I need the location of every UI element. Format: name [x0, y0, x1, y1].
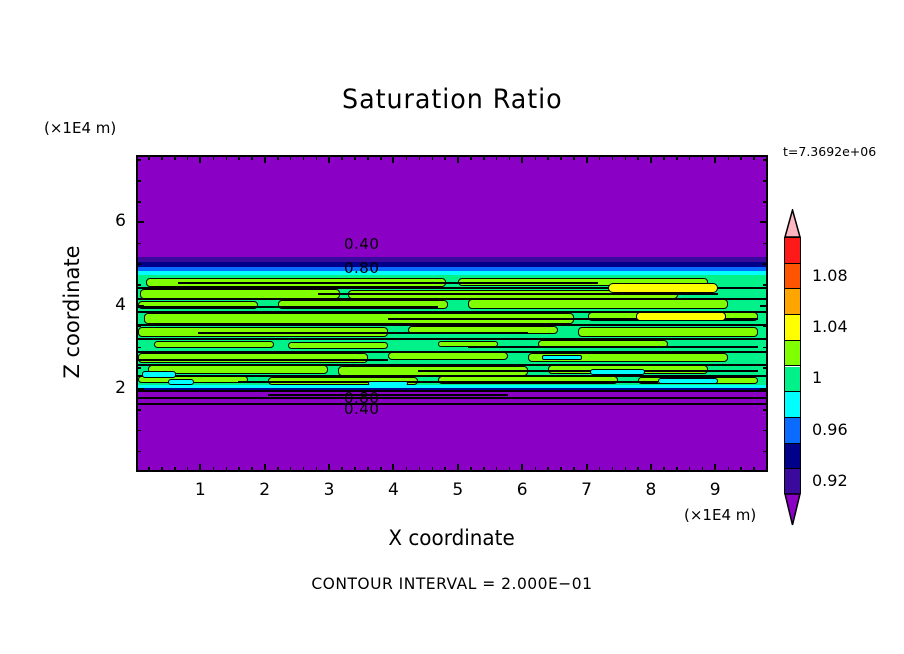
- y-axis-tick-minor: [136, 326, 141, 328]
- x-axis-tick-minor-top: [573, 155, 575, 160]
- y-axis-tick-minor-right: [763, 201, 768, 203]
- x-axis-unit-label: (×1E4 m): [684, 506, 756, 524]
- x-axis-tick-minor: [367, 467, 369, 472]
- x-axis-tick-major-top: [650, 155, 652, 163]
- y-axis-tick-minor: [136, 367, 141, 369]
- x-axis-tick-minor-top: [316, 155, 318, 160]
- y-axis-tick-minor-right: [763, 367, 768, 369]
- contour-blob: [288, 342, 388, 349]
- x-axis-tick-minor: [148, 467, 150, 472]
- y-axis-tick-major: [136, 221, 144, 223]
- x-axis-tick-minor-top: [380, 155, 382, 160]
- contour-blob: [578, 327, 758, 337]
- y-axis-tick-minor: [136, 451, 141, 453]
- x-axis-tick-minor-top: [753, 155, 755, 160]
- y-axis-tick-minor-right: [763, 347, 768, 349]
- colorbar-segment: [785, 289, 800, 315]
- y-axis-tick-minor: [136, 347, 141, 349]
- contour-line: [138, 306, 438, 308]
- contour-line: [138, 324, 766, 326]
- x-axis-tick-minor: [740, 467, 742, 472]
- x-axis-tick-minor: [573, 467, 575, 472]
- x-axis-tick-minor-top: [560, 155, 562, 160]
- contour-label-upper-040: 0.40: [344, 235, 379, 253]
- y-axis-tick-minor-right: [763, 180, 768, 182]
- x-axis-tick-minor-top: [599, 155, 601, 160]
- y-axis-tick-major: [136, 388, 144, 390]
- x-axis-tick-minor: [560, 467, 562, 472]
- x-axis-tick-label: 2: [245, 480, 285, 500]
- x-axis-tick-minor: [483, 467, 485, 472]
- contour-blob: [138, 353, 368, 363]
- x-axis-tick-minor-top: [406, 155, 408, 160]
- x-axis-tick-minor-top: [354, 155, 356, 160]
- x-axis-tick-minor: [599, 467, 601, 472]
- x-axis-tick-minor-top: [148, 155, 150, 160]
- x-axis-tick-minor: [535, 467, 537, 472]
- contour-line: [178, 282, 598, 284]
- colorbar-segment: [785, 392, 800, 418]
- y-axis-tick-minor: [136, 284, 141, 286]
- x-axis-tick-minor: [316, 467, 318, 472]
- x-axis-tick-major-top: [392, 155, 394, 163]
- contour-blob: [608, 283, 718, 293]
- x-axis-tick-minor-top: [187, 155, 189, 160]
- contour-line: [138, 359, 388, 361]
- x-axis-tick-major: [457, 464, 459, 472]
- x-axis-tick-minor: [187, 467, 189, 472]
- x-axis-tick-major-top: [264, 155, 266, 163]
- colorbar[interactable]: [784, 237, 801, 494]
- y-axis-tick-major-right: [760, 305, 768, 307]
- contour-line: [198, 332, 528, 334]
- x-axis-tick-major: [586, 464, 588, 472]
- x-axis-tick-minor: [625, 467, 627, 472]
- colorbar-segment: [785, 418, 800, 444]
- x-axis-tick-label: 4: [373, 480, 413, 500]
- colorbar-tick-label: 0.96: [812, 420, 848, 439]
- x-axis-tick-minor: [689, 467, 691, 472]
- y-axis-tick-major-right: [760, 221, 768, 223]
- colorbar-segment: [785, 238, 800, 264]
- y-axis-tick-major-right: [760, 388, 768, 390]
- x-axis-tick-minor: [612, 467, 614, 472]
- y-axis-tick-minor-right: [763, 326, 768, 328]
- x-axis-tick-minor: [728, 467, 730, 472]
- colorbar-segment: [785, 367, 800, 393]
- x-axis-tick-minor-top: [277, 155, 279, 160]
- x-axis-tick-major: [650, 464, 652, 472]
- x-axis-tick-minor: [277, 467, 279, 472]
- x-axis-tick-label: 7: [567, 480, 607, 500]
- contour-band: [138, 391, 766, 401]
- contour-blob: [468, 299, 728, 309]
- x-axis-tick-minor: [444, 467, 446, 472]
- colorbar-bottom-arrow: [784, 493, 801, 526]
- x-axis-tick-minor: [753, 467, 755, 472]
- x-axis-tick-minor: [406, 467, 408, 472]
- y-axis-tick-minor: [136, 263, 141, 265]
- x-axis-tick-minor-top: [496, 155, 498, 160]
- colorbar-tick-label: 1.08: [812, 266, 848, 285]
- x-axis-tick-minor: [238, 467, 240, 472]
- colorbar-tick-label: 1: [812, 368, 822, 387]
- y-axis-title: Z coordinate: [60, 212, 84, 412]
- x-axis-tick-minor: [547, 467, 549, 472]
- x-axis-tick-major-top: [328, 155, 330, 163]
- y-axis-tick-minor-right: [763, 409, 768, 411]
- x-axis-tick-minor-top: [161, 155, 163, 160]
- contour-blob: [154, 341, 274, 348]
- x-axis-tick-minor-top: [612, 155, 614, 160]
- x-axis-tick-minor-top: [535, 155, 537, 160]
- x-axis-tick-minor: [226, 467, 228, 472]
- contour-line: [268, 394, 508, 396]
- x-axis-tick-major-top: [586, 155, 588, 163]
- contour-blob: [142, 371, 176, 378]
- x-axis-tick-minor: [509, 467, 511, 472]
- x-axis-tick-minor-top: [367, 155, 369, 160]
- contour-blob: [590, 369, 645, 375]
- y-axis-tick-minor-right: [763, 284, 768, 286]
- x-axis-tick-major-top: [457, 155, 459, 163]
- x-axis-tick-major-top: [714, 155, 716, 163]
- x-axis-tick-minor-top: [689, 155, 691, 160]
- contour-line: [138, 375, 766, 377]
- y-axis-tick-minor: [136, 430, 141, 432]
- figure-canvas: Saturation Ratio (×1E4 m) (×1E4 m) t=7.3…: [0, 0, 904, 654]
- x-axis-tick-minor: [676, 467, 678, 472]
- x-axis-tick-minor-top: [740, 155, 742, 160]
- x-axis-tick-minor-top: [419, 155, 421, 160]
- x-axis-tick-major: [199, 464, 201, 472]
- x-axis-tick-minor: [496, 467, 498, 472]
- x-axis-tick-minor: [303, 467, 305, 472]
- x-axis-tick-label: 9: [695, 480, 735, 500]
- x-axis-tick-minor: [702, 467, 704, 472]
- x-axis-tick-minor-top: [303, 155, 305, 160]
- x-axis-tick-label: 1: [180, 480, 220, 500]
- colorbar-tick-label: 1.04: [812, 317, 848, 336]
- x-axis-tick-minor-top: [251, 155, 253, 160]
- x-axis-tick-minor: [663, 467, 665, 472]
- contour-line: [138, 298, 766, 300]
- x-axis-tick-minor-top: [341, 155, 343, 160]
- x-axis-tick-minor: [290, 467, 292, 472]
- colorbar-top-arrow: [784, 209, 801, 238]
- contour-line: [138, 397, 766, 399]
- y-axis-tick-minor: [136, 409, 141, 411]
- contour-line: [318, 293, 718, 295]
- x-axis-tick-minor: [213, 467, 215, 472]
- x-axis-tick-major-top: [199, 155, 201, 163]
- x-axis-title: X coordinate: [0, 526, 904, 550]
- x-axis-tick-minor-top: [444, 155, 446, 160]
- x-axis-tick-minor: [161, 467, 163, 472]
- x-axis-tick-minor-top: [637, 155, 639, 160]
- y-axis-tick-minor-right: [763, 263, 768, 265]
- x-axis-tick-label: 8: [631, 480, 671, 500]
- contour-blob: [542, 355, 582, 360]
- y-axis-tick-label: 2: [96, 378, 126, 398]
- x-axis-tick-minor: [432, 467, 434, 472]
- x-axis-tick-minor: [251, 467, 253, 472]
- x-axis-tick-minor-top: [663, 155, 665, 160]
- x-axis-tick-minor-top: [290, 155, 292, 160]
- colorbar-tick-label: 0.92: [812, 471, 848, 490]
- y-axis-tick-minor: [136, 243, 141, 245]
- contour-interval-label: CONTOUR INTERVAL = 2.000E−01: [0, 574, 904, 593]
- y-axis-tick-minor: [136, 201, 141, 203]
- contour-line: [238, 381, 658, 383]
- x-axis-tick-minor-top: [174, 155, 176, 160]
- y-axis-tick-major: [136, 305, 144, 307]
- x-axis-tick-label: 5: [438, 480, 478, 500]
- y-axis-tick-label: 4: [96, 295, 126, 315]
- x-axis-tick-major: [714, 464, 716, 472]
- colorbar-segment: [785, 341, 800, 367]
- y-axis-tick-minor-right: [763, 451, 768, 453]
- contour-line: [138, 351, 766, 353]
- x-axis-tick-minor: [380, 467, 382, 472]
- colorbar-segment: [785, 469, 800, 495]
- y-axis-tick-minor-right: [763, 430, 768, 432]
- contour-blob: [636, 312, 726, 321]
- y-axis-unit-label: (×1E4 m): [44, 119, 116, 137]
- x-axis-tick-minor-top: [213, 155, 215, 160]
- x-axis-tick-minor: [637, 467, 639, 472]
- x-axis-tick-minor: [341, 467, 343, 472]
- x-axis-tick-minor-top: [483, 155, 485, 160]
- timestamp-label: t=7.3692e+06: [783, 144, 876, 159]
- x-axis-tick-major: [521, 464, 523, 472]
- colorbar-segment: [785, 444, 800, 470]
- x-axis-tick-minor-top: [509, 155, 511, 160]
- contour-blob: [388, 352, 508, 360]
- contour-line: [468, 346, 758, 348]
- page-title: Saturation Ratio: [0, 84, 904, 115]
- contour-line: [138, 364, 766, 366]
- contour-label-upper-080: 0.80: [344, 259, 379, 277]
- contour-line: [138, 338, 766, 340]
- contour-blob: [658, 378, 718, 384]
- x-axis-tick-minor: [419, 467, 421, 472]
- x-axis-tick-major-top: [521, 155, 523, 163]
- x-axis-tick-minor: [354, 467, 356, 472]
- x-axis-tick-minor-top: [470, 155, 472, 160]
- contour-label-lower-040: 0.40: [344, 400, 379, 418]
- x-axis-tick-minor-top: [625, 155, 627, 160]
- x-axis-tick-label: 3: [309, 480, 349, 500]
- y-axis-tick-minor-right: [763, 243, 768, 245]
- x-axis-tick-minor: [766, 467, 768, 472]
- y-axis-tick-minor: [136, 180, 141, 182]
- colorbar-segment: [785, 315, 800, 341]
- x-axis-tick-minor-top: [676, 155, 678, 160]
- colorbar-segment: [785, 264, 800, 290]
- x-axis-tick-major: [392, 464, 394, 472]
- x-axis-tick-minor-top: [432, 155, 434, 160]
- y-axis-tick-minor-right: [763, 159, 768, 161]
- contour-line: [138, 403, 766, 405]
- x-axis-tick-minor-top: [728, 155, 730, 160]
- x-axis-tick-minor-top: [238, 155, 240, 160]
- x-axis-tick-minor-top: [226, 155, 228, 160]
- y-axis-tick-label: 6: [96, 211, 126, 231]
- contour-field: [138, 157, 766, 470]
- x-axis-tick-minor: [470, 467, 472, 472]
- x-axis-tick-major: [264, 464, 266, 472]
- x-axis-tick-minor-top: [702, 155, 704, 160]
- contour-line: [418, 370, 758, 372]
- contour-line: [138, 390, 766, 392]
- x-axis-tick-major: [328, 464, 330, 472]
- y-axis-tick-minor: [136, 159, 141, 161]
- contour-plot-area: 0.40 0.80 0.80 0.40: [136, 155, 768, 472]
- x-axis-tick-label: 6: [502, 480, 542, 500]
- x-axis-tick-minor-top: [547, 155, 549, 160]
- x-axis-tick-minor: [174, 467, 176, 472]
